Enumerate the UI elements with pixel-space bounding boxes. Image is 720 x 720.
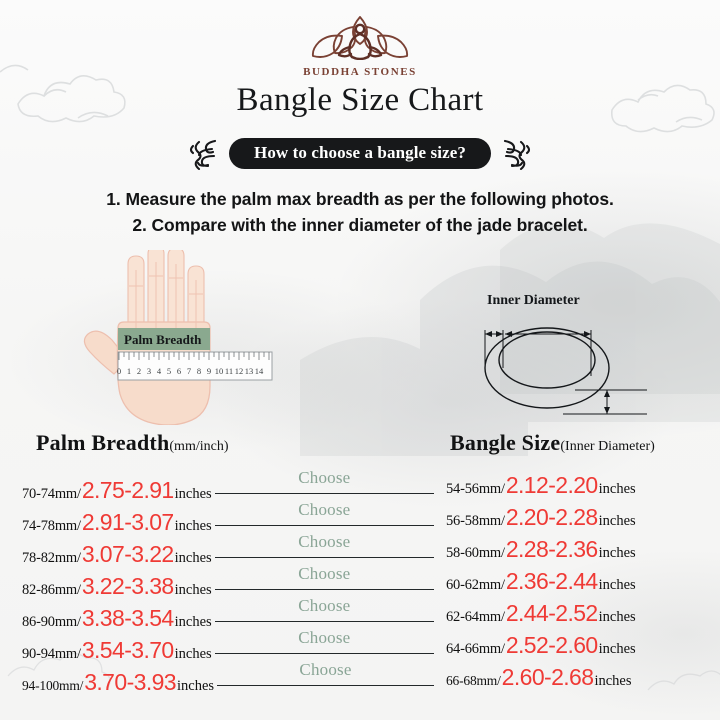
bangle-inner-diameter-illustration: Inner Diameter (455, 288, 680, 420)
size-unit-label: inches (175, 486, 212, 503)
size-row[interactable]: 94-100mm/3.70-3.93inchesChoose (22, 664, 434, 696)
size-inch-value: 2.28-2.36 (506, 536, 598, 563)
size-unit-label: inches (599, 641, 636, 658)
size-mm-value: 62-64mm/ (446, 609, 505, 626)
size-mm-value: 60-62mm/ (446, 577, 505, 594)
choose-label: Choose (298, 532, 350, 552)
choose-underline (215, 589, 434, 590)
size-row: 66-68mm/2.60-2.68inches (446, 664, 714, 696)
size-mm-value: 78-82mm/ (22, 550, 81, 567)
choose-underline (217, 685, 434, 686)
lotus-meditation-icon (306, 10, 414, 60)
size-unit-label: inches (599, 545, 636, 562)
choose-field[interactable]: Choose (215, 568, 434, 594)
size-row: 60-62mm/2.36-2.44inches (446, 568, 714, 600)
size-inch-value: 3.07-3.22 (82, 541, 174, 568)
size-unit-label: inches (175, 550, 212, 567)
bangle-ring (485, 328, 609, 408)
size-mm-value: 74-78mm/ (22, 518, 81, 535)
size-row[interactable]: 82-86mm/3.22-3.38inchesChoose (22, 568, 434, 600)
size-unit-label: inches (175, 646, 212, 663)
size-mm-value: 58-60mm/ (446, 545, 505, 562)
size-unit-label: inches (175, 518, 212, 535)
size-mm-value: 86-90mm/ (22, 614, 81, 631)
bangle-size-header-main: Bangle Size (450, 430, 560, 455)
ruler-tick-label: 1 (127, 366, 131, 376)
size-row[interactable]: 70-74mm/2.75-2.91inchesChoose (22, 472, 434, 504)
choose-field[interactable]: Choose (217, 664, 434, 690)
size-inch-value: 2.36-2.44 (506, 568, 598, 595)
subtitle-row: How to choose a bangle size? (0, 136, 720, 170)
choose-underline (215, 653, 434, 654)
size-inch-value: 2.60-2.68 (502, 664, 594, 691)
size-unit-label: inches (177, 678, 214, 695)
size-inch-value: 2.91-3.07 (82, 509, 174, 536)
choose-underline (215, 557, 434, 558)
inner-diameter-label: Inner Diameter (487, 293, 580, 308)
size-unit-label: inches (599, 609, 636, 626)
size-inch-value: 3.54-3.70 (82, 637, 174, 664)
size-mm-value: 82-86mm/ (22, 582, 81, 599)
choose-label: Choose (298, 628, 350, 648)
size-inch-value: 2.44-2.52 (506, 600, 598, 627)
ruler-tick-label: 6 (177, 366, 181, 376)
size-unit-label: inches (175, 582, 212, 599)
instruction-line-1: 1. Measure the palm max breadth as per t… (0, 186, 720, 212)
size-inch-value: 3.22-3.38 (82, 573, 174, 600)
choose-label: Choose (298, 596, 350, 616)
ruler-tick-label: 9 (207, 366, 211, 376)
choose-underline (215, 525, 434, 526)
size-inch-value: 2.52-2.60 (506, 632, 598, 659)
ruler: 01234567891011121314 (117, 352, 272, 380)
palm-breadth-header-main: Palm Breadth (36, 430, 169, 455)
palm-breadth-rows: 70-74mm/2.75-2.91inchesChoose74-78mm/2.9… (22, 472, 434, 696)
size-unit-label: inches (594, 673, 631, 690)
choose-field[interactable]: Choose (215, 600, 434, 626)
size-row[interactable]: 90-94mm/3.54-3.70inchesChoose (22, 632, 434, 664)
ruler-tick-label: 8 (197, 366, 201, 376)
instructions-block: 1. Measure the palm max breadth as per t… (0, 186, 720, 238)
swirl-ornament-left-icon (186, 136, 220, 170)
bangle-size-column-header: Bangle Size(Inner Diameter) (450, 430, 655, 456)
choose-label: Choose (298, 500, 350, 520)
choose-field[interactable]: Choose (215, 472, 434, 498)
page-title: Bangle Size Chart (0, 82, 720, 119)
size-inch-value: 3.38-3.54 (82, 605, 174, 632)
size-unit-label: inches (599, 481, 636, 498)
size-mm-value: 70-74mm/ (22, 486, 81, 503)
hand-palm-breadth-illustration: Palm Breadth 01234567891011121314 (72, 250, 334, 425)
size-mm-value: 64-66mm/ (446, 641, 505, 658)
instruction-line-2: 2. Compare with the inner diameter of th… (0, 212, 720, 238)
ruler-tick-label: 12 (235, 366, 244, 376)
size-row: 62-64mm/2.44-2.52inches (446, 600, 714, 632)
ruler-numbers: 01234567891011121314 (117, 366, 264, 376)
choose-label: Choose (298, 468, 350, 488)
bangle-size-header-sub: (Inner Diameter) (560, 439, 654, 454)
size-row: 58-60mm/2.28-2.36inches (446, 536, 714, 568)
choose-underline (215, 493, 434, 494)
choose-underline (215, 621, 434, 622)
choose-field[interactable]: Choose (215, 536, 434, 562)
ruler-tick-label: 11 (225, 366, 233, 376)
choose-label: Choose (299, 660, 351, 680)
palm-breadth-column-header: Palm Breadth(mm/inch) (36, 430, 229, 456)
ruler-tick-label: 10 (215, 366, 224, 376)
ruler-tick-label: 13 (245, 366, 254, 376)
ruler-tick-label: 2 (137, 366, 141, 376)
size-inch-value: 2.75-2.91 (82, 477, 174, 504)
size-inch-value: 2.12-2.20 (506, 472, 598, 499)
size-unit-label: inches (599, 577, 636, 594)
brand-logo-block: BUDDHA STONES (0, 10, 720, 78)
size-mm-value: 66-68mm/ (446, 673, 501, 689)
size-row[interactable]: 86-90mm/3.38-3.54inchesChoose (22, 600, 434, 632)
choose-field[interactable]: Choose (215, 632, 434, 658)
size-mm-value: 94-100mm/ (22, 678, 83, 694)
ruler-tick-label: 14 (255, 366, 264, 376)
size-row: 64-66mm/2.52-2.60inches (446, 632, 714, 664)
brand-name: BUDDHA STONES (0, 66, 720, 78)
bangle-size-rows: 54-56mm/2.12-2.20inches56-58mm/2.20-2.28… (446, 472, 714, 696)
subtitle-pill: How to choose a bangle size? (229, 138, 491, 169)
ruler-tick-label: 3 (147, 366, 151, 376)
size-row[interactable]: 78-82mm/3.07-3.22inchesChoose (22, 536, 434, 568)
size-unit-label: inches (599, 513, 636, 530)
palm-breadth-header-sub: (mm/inch) (169, 439, 228, 454)
size-mm-value: 54-56mm/ (446, 481, 505, 498)
ruler-tick-label: 0 (117, 366, 121, 376)
size-mm-value: 56-58mm/ (446, 513, 505, 530)
size-unit-label: inches (175, 614, 212, 631)
size-inch-value: 2.20-2.28 (506, 504, 598, 531)
choose-label: Choose (298, 564, 350, 584)
size-inch-value: 3.70-3.93 (84, 669, 176, 696)
size-row: 56-58mm/2.20-2.28inches (446, 504, 714, 536)
size-mm-value: 90-94mm/ (22, 646, 81, 663)
swirl-ornament-right-icon (500, 136, 534, 170)
choose-field[interactable]: Choose (215, 504, 434, 530)
ruler-tick-label: 7 (187, 366, 191, 376)
palm-breadth-band-label: Palm Breadth (124, 332, 202, 347)
size-row[interactable]: 74-78mm/2.91-3.07inchesChoose (22, 504, 434, 536)
ruler-tick-label: 5 (167, 366, 171, 376)
size-row: 54-56mm/2.12-2.20inches (446, 472, 714, 504)
